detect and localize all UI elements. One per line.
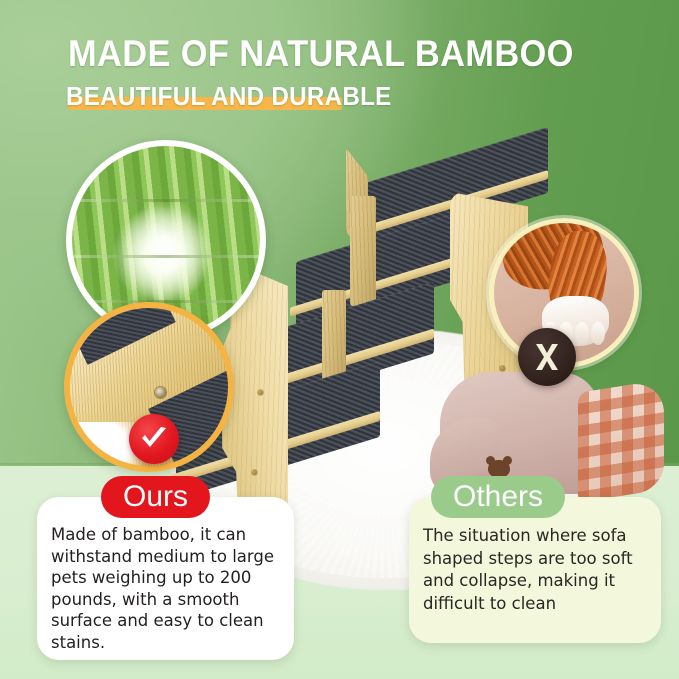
page-title: MADE OF NATURAL BAMBOO [68, 32, 607, 76]
screw [500, 366, 505, 371]
screw [252, 470, 257, 475]
step-support-post-2 [322, 290, 346, 382]
carpet-tread-detail [64, 302, 176, 364]
comparison-card-ours: Ours Made of bamboo, it can withstand me… [37, 497, 294, 660]
screw-detail [155, 387, 166, 398]
dog-toe [575, 322, 589, 345]
check-badge [129, 414, 179, 464]
bamboo-node [72, 255, 260, 258]
sofa-gingham-panel [578, 379, 664, 503]
cross-badge [518, 328, 576, 386]
bamboo-sun-glow [125, 202, 208, 300]
infographic-canvas: MADE OF NATURAL BAMBOO BEAUTIFUL AND DUR… [0, 0, 679, 679]
bamboo-node [72, 199, 260, 202]
page-subtitle: BEAUTIFUL AND DURABLE [66, 80, 392, 112]
others-label-pill: Others [431, 476, 565, 518]
comparison-card-others: Others The situation where sofa shaped s… [409, 497, 661, 643]
bear-ear-icon [486, 456, 495, 465]
ours-label-pill: Ours [101, 476, 210, 518]
ours-description: Made of bamboo, it can withstand medium … [37, 497, 294, 663]
subtitle-wrapper: BEAUTIFUL AND DURABLE [66, 80, 416, 112]
step-support-post-1 [350, 196, 376, 306]
bamboo-node [72, 300, 260, 303]
dog-toe [591, 322, 605, 345]
check-icon [139, 426, 169, 452]
close-icon [532, 342, 562, 372]
bear-ear-icon [503, 456, 512, 465]
screw [258, 390, 263, 395]
